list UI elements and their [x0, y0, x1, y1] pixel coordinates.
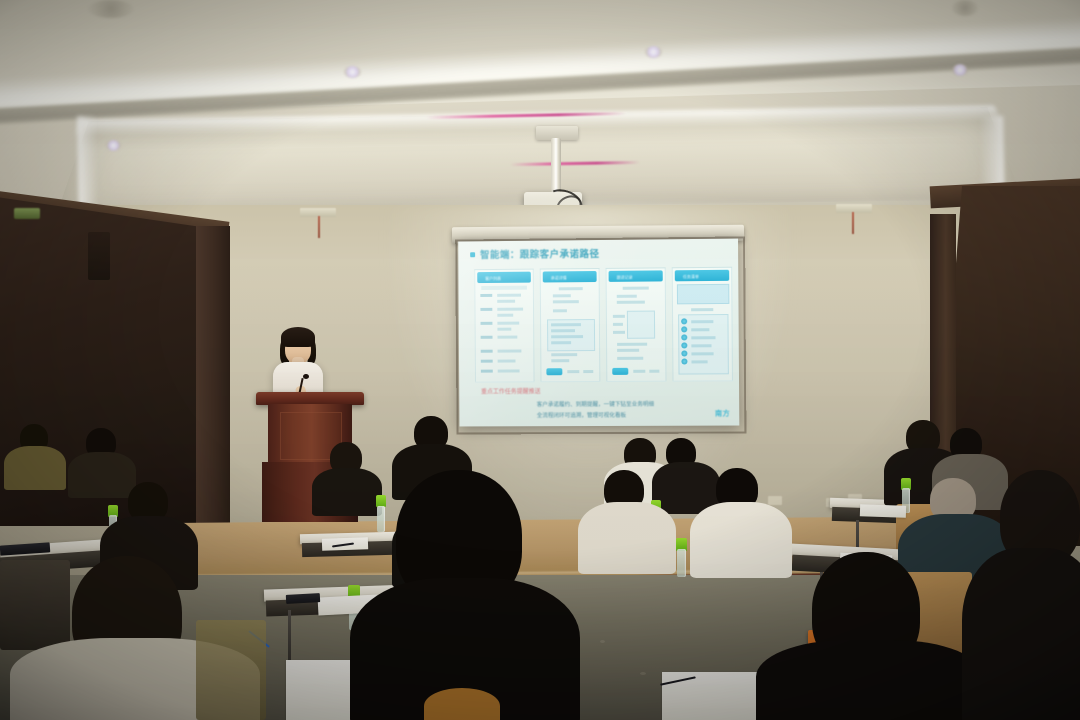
mockup-row: [497, 314, 513, 317]
mockup-row: [567, 370, 579, 373]
mockup-row: [481, 336, 493, 339]
mockup-row: [553, 294, 571, 297]
mockup-row: [481, 360, 493, 363]
vent-pipe: [318, 216, 320, 238]
mockup-row: [553, 300, 579, 303]
mockup-header-label: 跟进记录: [617, 274, 633, 280]
conference-chair: [0, 560, 70, 650]
laptop: [286, 593, 320, 604]
app-mockup: 承诺详情: [540, 268, 601, 382]
mockup-row: [481, 370, 493, 373]
mockup-row: [617, 301, 645, 304]
mockup-row: [497, 294, 521, 297]
bottle-body: [677, 549, 687, 576]
mockup-row: [691, 308, 713, 311]
mockup-header-bar: 跟进记录: [609, 270, 663, 282]
mockup-row: [623, 287, 649, 290]
attendee-shoulders: [962, 548, 1080, 720]
attendee-shoulders: [4, 446, 66, 490]
mockup-row: [691, 344, 711, 347]
recessed-downlight: [952, 64, 968, 76]
attendee-head: [424, 688, 500, 720]
mockup-row: [553, 309, 567, 312]
mockup-row: [559, 287, 583, 290]
mockup-row: [691, 352, 713, 355]
mockup-avatar: [681, 342, 687, 348]
vent-pipe: [852, 212, 854, 234]
presentation-slide: 智能端：跟踪客户承诺路径 客户列表: [458, 239, 739, 427]
mockup-row: [497, 322, 519, 325]
mockup-row: [497, 328, 511, 331]
mockup-row: [613, 323, 623, 326]
mockup-row: [617, 343, 647, 346]
mockup-panel: [627, 311, 655, 339]
bottle-body: [377, 506, 386, 532]
mockup-row: [613, 331, 625, 334]
slide-title: 智能端：跟踪客户承诺路径: [480, 246, 599, 261]
mockup-row: [551, 329, 575, 332]
water-bottle-green-cap: [376, 495, 386, 531]
attendee-shoulders: [68, 452, 136, 498]
slide-title-marker: [470, 252, 475, 257]
mockup-action-button: [612, 368, 628, 375]
recessed-downlight: [106, 140, 121, 151]
attendee-shoulders: [690, 502, 792, 578]
mockup-row: [617, 349, 639, 352]
mockup-row: [551, 353, 577, 356]
mockup-row: [691, 328, 709, 331]
mockup-row: [617, 295, 637, 298]
conference-chair: [196, 620, 266, 720]
attendee-shoulders: [578, 502, 676, 574]
wall-outlet: [768, 496, 782, 505]
exit-sign: [14, 208, 40, 219]
carpet-texture: [640, 672, 646, 675]
mockup-row: [480, 308, 492, 311]
mockup-row: [481, 350, 493, 353]
water-bottle-green-cap: [676, 538, 687, 576]
wall-air-vent: [836, 204, 872, 213]
mockup-row: [691, 360, 707, 363]
mockup-avatar: [681, 358, 687, 364]
mockup-avatar: [681, 350, 687, 356]
wall-speaker: [88, 232, 110, 280]
recessed-downlight: [645, 46, 662, 58]
slide-bullet-line: 全流程闭环可追溯，管理可视化看板: [537, 411, 626, 419]
mockup-avatar: [681, 326, 687, 332]
app-mockup: 任务清单: [672, 267, 733, 382]
app-mockup: 客户列表: [474, 269, 534, 383]
mockup-row: [649, 370, 659, 373]
mockup-row: [497, 308, 523, 311]
mockup-row: [497, 336, 517, 339]
slide-bullet-line: 客户承诺履约、到期提醒，一键下钻至业务明细: [537, 400, 654, 408]
mockup-row: [551, 359, 569, 362]
mockup-row: [583, 370, 593, 373]
app-mockup: 跟进记录: [606, 267, 667, 382]
mockup-header-label: 承诺详情: [551, 275, 567, 281]
slide-logo: 南方: [715, 408, 730, 418]
attendee-shoulders: [312, 468, 382, 516]
mockup-row: [480, 294, 492, 297]
mockup-row: [617, 357, 643, 360]
conference-room-scene: 智能端：跟踪客户承诺路径 客户列表: [0, 0, 1080, 720]
mockup-row: [613, 315, 625, 318]
recessed-downlight: [344, 66, 361, 78]
mockup-row: [551, 335, 583, 338]
mockup-header-label: 客户列表: [485, 275, 501, 281]
mockup-subheader: [481, 286, 527, 290]
mockup-row: [551, 323, 581, 326]
carpet-texture: [600, 640, 605, 643]
sprinkler-head: [952, 0, 978, 16]
mockup-header-label: 任务清单: [683, 274, 699, 280]
projection-screen: 智能端：跟踪客户承诺路径 客户列表: [458, 239, 739, 427]
mockup-row: [497, 300, 515, 303]
mockup-row: [691, 336, 715, 339]
mockup-row: [633, 370, 645, 373]
mockup-header-bar: 承诺详情: [543, 271, 597, 282]
mockup-avatar: [681, 318, 687, 324]
mockup-row: [498, 369, 520, 372]
ceiling-vent: [88, 0, 134, 18]
attendee-shoulders: [756, 640, 984, 720]
mockup-row: [498, 349, 522, 352]
mockup-panel: [677, 284, 730, 305]
mockup-avatar: [681, 334, 687, 340]
projector-mount-pole: [551, 138, 561, 196]
mockup-header-bar: 客户列表: [477, 272, 531, 283]
mockup-row: [481, 322, 493, 325]
mockup-row: [691, 320, 713, 323]
slide-red-note: 重点工作任务提醒推送: [481, 386, 541, 395]
mockup-action-button: [546, 368, 562, 375]
left-panel-pilaster: [196, 226, 230, 526]
mockup-row: [498, 359, 516, 362]
mockup-header-bar: 任务清单: [675, 270, 729, 282]
notepad-paper: [860, 504, 906, 518]
presenter-hair-top: [281, 327, 315, 347]
microphone-head: [303, 374, 309, 379]
mockup-row: [551, 341, 571, 344]
